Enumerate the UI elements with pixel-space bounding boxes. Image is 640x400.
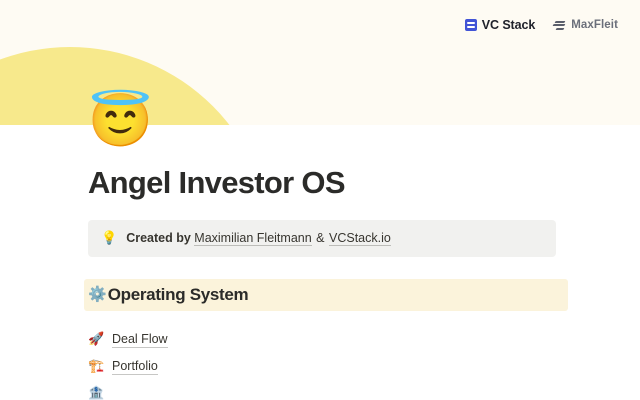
created-by-text: Created by Maximilian Fleitmann & VCStac… — [126, 229, 391, 247]
vc-stack-logo-text: VC Stack — [482, 19, 535, 32]
light-bulb-emoji: 💡 — [101, 229, 117, 247]
section-heading-operating-system: ⚙️ Operating System — [84, 279, 568, 311]
brand-bar: VC Stack MaxFleit — [465, 19, 618, 32]
ampersand-separator: & — [315, 231, 325, 245]
created-by-label: Created by — [126, 231, 191, 245]
brand-maxfleit[interactable]: MaxFleit — [552, 19, 618, 31]
bank-emoji: 🏦 — [88, 385, 104, 400]
created-by-callout: 💡 Created by Maximilian Fleitmann & VCSt… — [88, 220, 556, 257]
list-item-label: Portfolio — [112, 358, 158, 375]
building-construction-emoji: 🏗️ — [88, 358, 104, 374]
rocket-emoji: 🚀 — [88, 331, 104, 347]
list-item-label: Deal Flow — [112, 331, 168, 348]
vc-stack-logo-mark-icon — [465, 19, 477, 31]
smiling-face-with-halo-emoji[interactable]: 😇 — [88, 95, 153, 147]
page-content: Angel Investor OS 💡 Created by Maximilia… — [88, 165, 556, 400]
notion-page: VC Stack MaxFleit 😇 Angel Investor OS 💡 … — [0, 0, 640, 400]
list-item[interactable]: 🚀 Deal Flow — [88, 331, 556, 348]
page-link-list: 🚀 Deal Flow 🏗️ Portfolio 🏦 — [88, 331, 556, 400]
vcstack-site-link[interactable]: VCStack.io — [329, 231, 391, 246]
maxfleit-logo-mark-icon — [552, 19, 566, 31]
maxfleit-logo-text: MaxFleit — [571, 20, 618, 32]
author-link[interactable]: Maximilian Fleitmann — [194, 231, 311, 246]
section-heading-label: Operating System — [108, 284, 249, 305]
list-item[interactable]: 🏦 — [88, 385, 556, 400]
list-item[interactable]: 🏗️ Portfolio — [88, 358, 556, 375]
page-title: Angel Investor OS — [88, 165, 556, 202]
brand-vc-stack[interactable]: VC Stack — [465, 19, 535, 32]
gear-emoji: ⚙️ — [88, 287, 107, 302]
